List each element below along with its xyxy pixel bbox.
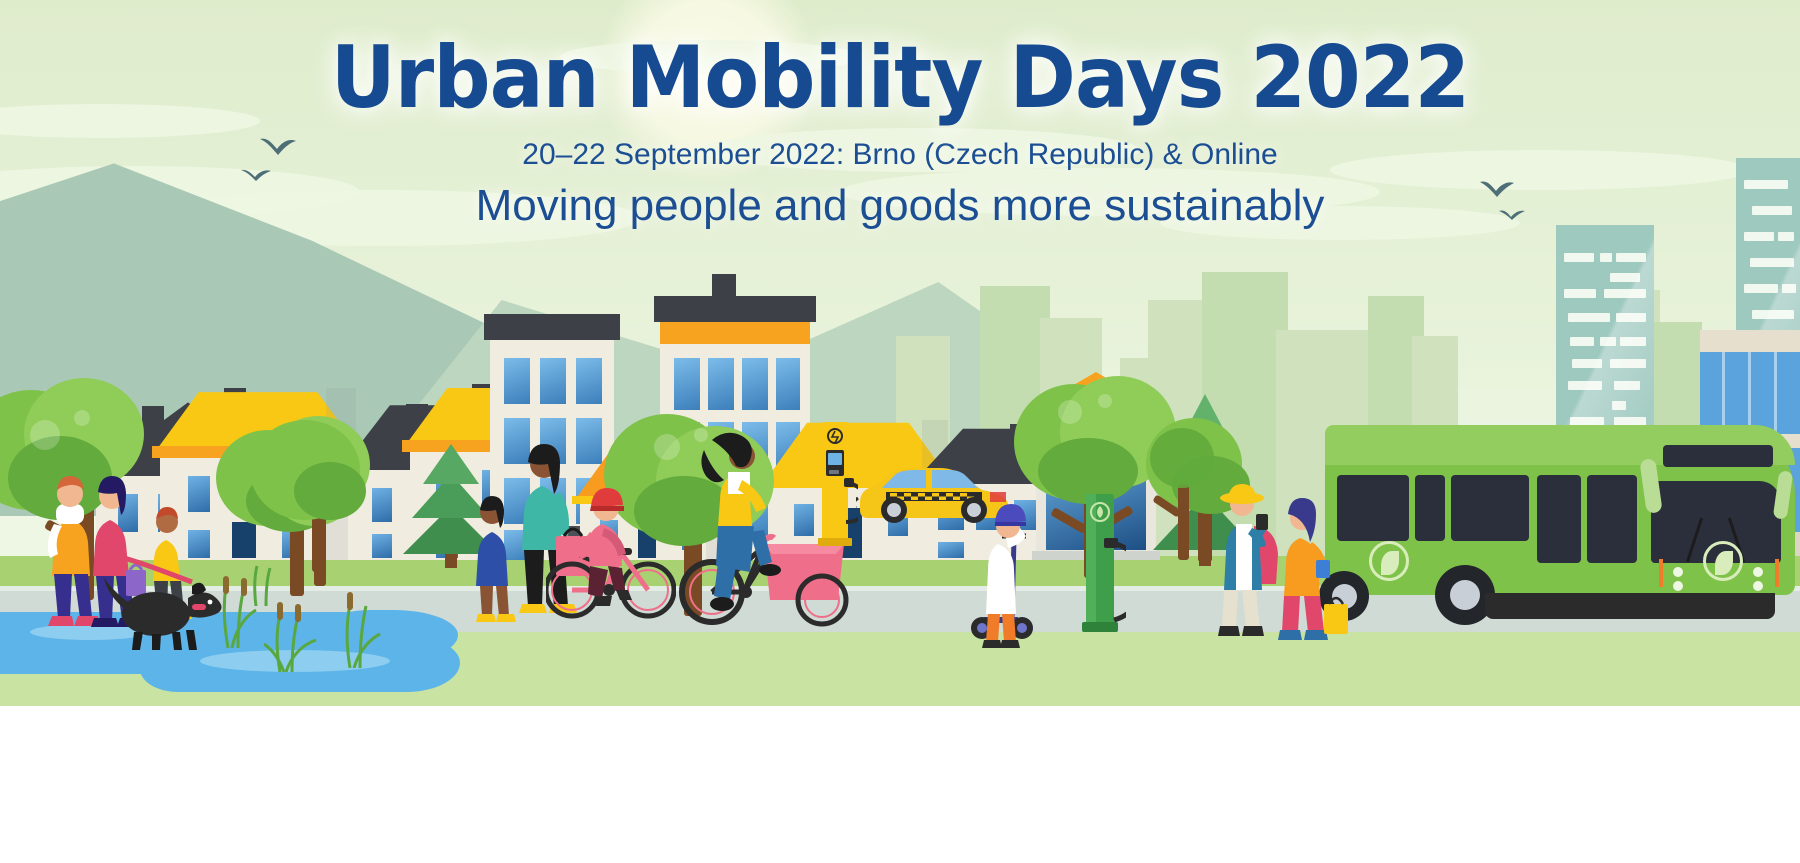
electric-bus [1325,425,1795,635]
leaf-icon [1703,541,1743,581]
ev-charger-icon [1082,494,1122,630]
e-scooter-rider [962,500,1052,648]
tree-icon [250,420,390,570]
ev-charger-icon [818,422,852,544]
footer-bar: ★ ★ ★ ★ ★ ★ ★ ★ ★ ★ ★ ★ European Commiss… [0,706,1800,863]
dog [100,540,230,640]
event-details: 20–22 September 2022: Brno (Czech Republ… [0,138,1800,172]
reed-plant [332,588,382,673]
event-tagline: Moving people and goods more sustainably [0,180,1800,232]
cyclist-on-bicycle [546,484,666,624]
headline-block: Urban Mobility Days 2022 20–22 September… [0,30,1800,232]
reed-plant [246,560,276,611]
poster: Urban Mobility Days 2022 20–22 September… [0,0,1800,863]
passenger-woman [1272,494,1354,646]
leaf-icon [1369,541,1409,581]
page-title: Urban Mobility Days 2022 [63,30,1737,126]
